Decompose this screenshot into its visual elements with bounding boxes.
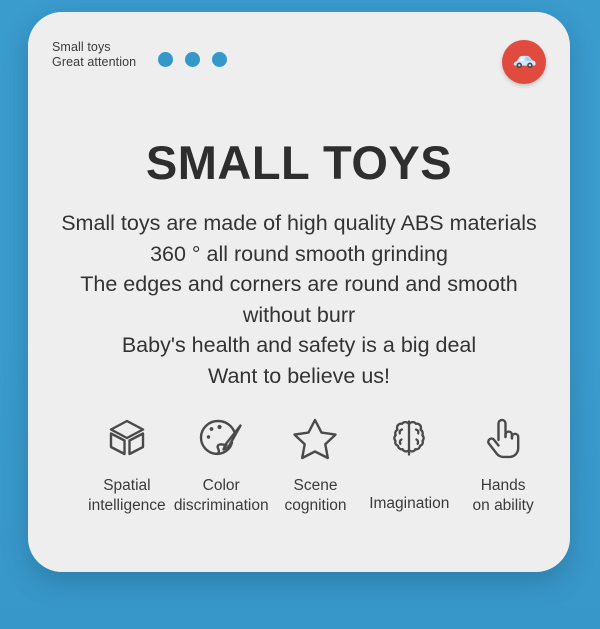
dot-indicator-3 [212, 52, 227, 67]
body-description: Small toys are made of high quality ABS … [36, 208, 562, 391]
feature-label-imagination: Imagination [369, 494, 449, 514]
feature-label-color-discrimination: Color discrimination [174, 476, 269, 516]
product-info-card: Small toys Great attention [28, 12, 570, 572]
feature-item-spatial-intelligence: Spatial intelligence [80, 410, 174, 516]
card-header: Small toys Great attention [52, 40, 227, 70]
dot-indicator-1 [158, 52, 173, 67]
feature-item-scene-cognition: Scene cognition [269, 410, 363, 516]
feature-item-color-discrimination: Color discrimination [174, 410, 269, 516]
hand-point-icon [481, 410, 525, 466]
feature-item-imagination: Imagination [362, 410, 456, 514]
feature-item-hands-on-ability: Hands on ability [456, 410, 550, 516]
brain-icon [386, 410, 432, 466]
palette-icon [196, 410, 246, 466]
feature-label-spatial-intelligence: Spatial intelligence [88, 476, 166, 516]
header-tagline: Small toys Great attention [52, 40, 136, 70]
dot-indicator-2 [185, 52, 200, 67]
feature-label-scene-cognition: Scene cognition [284, 476, 346, 516]
cube-icon [103, 410, 151, 466]
feature-label-hands-on-ability: Hands on ability [473, 476, 534, 516]
page-background: Small toys Great attention [0, 0, 600, 629]
star-icon [290, 410, 340, 466]
page-title: SMALL TOYS [28, 136, 570, 190]
brand-badge [502, 40, 546, 84]
car-icon [509, 45, 539, 80]
header-dots [158, 52, 227, 67]
feature-list: Spatial intelligence Color discriminatio… [80, 410, 550, 516]
